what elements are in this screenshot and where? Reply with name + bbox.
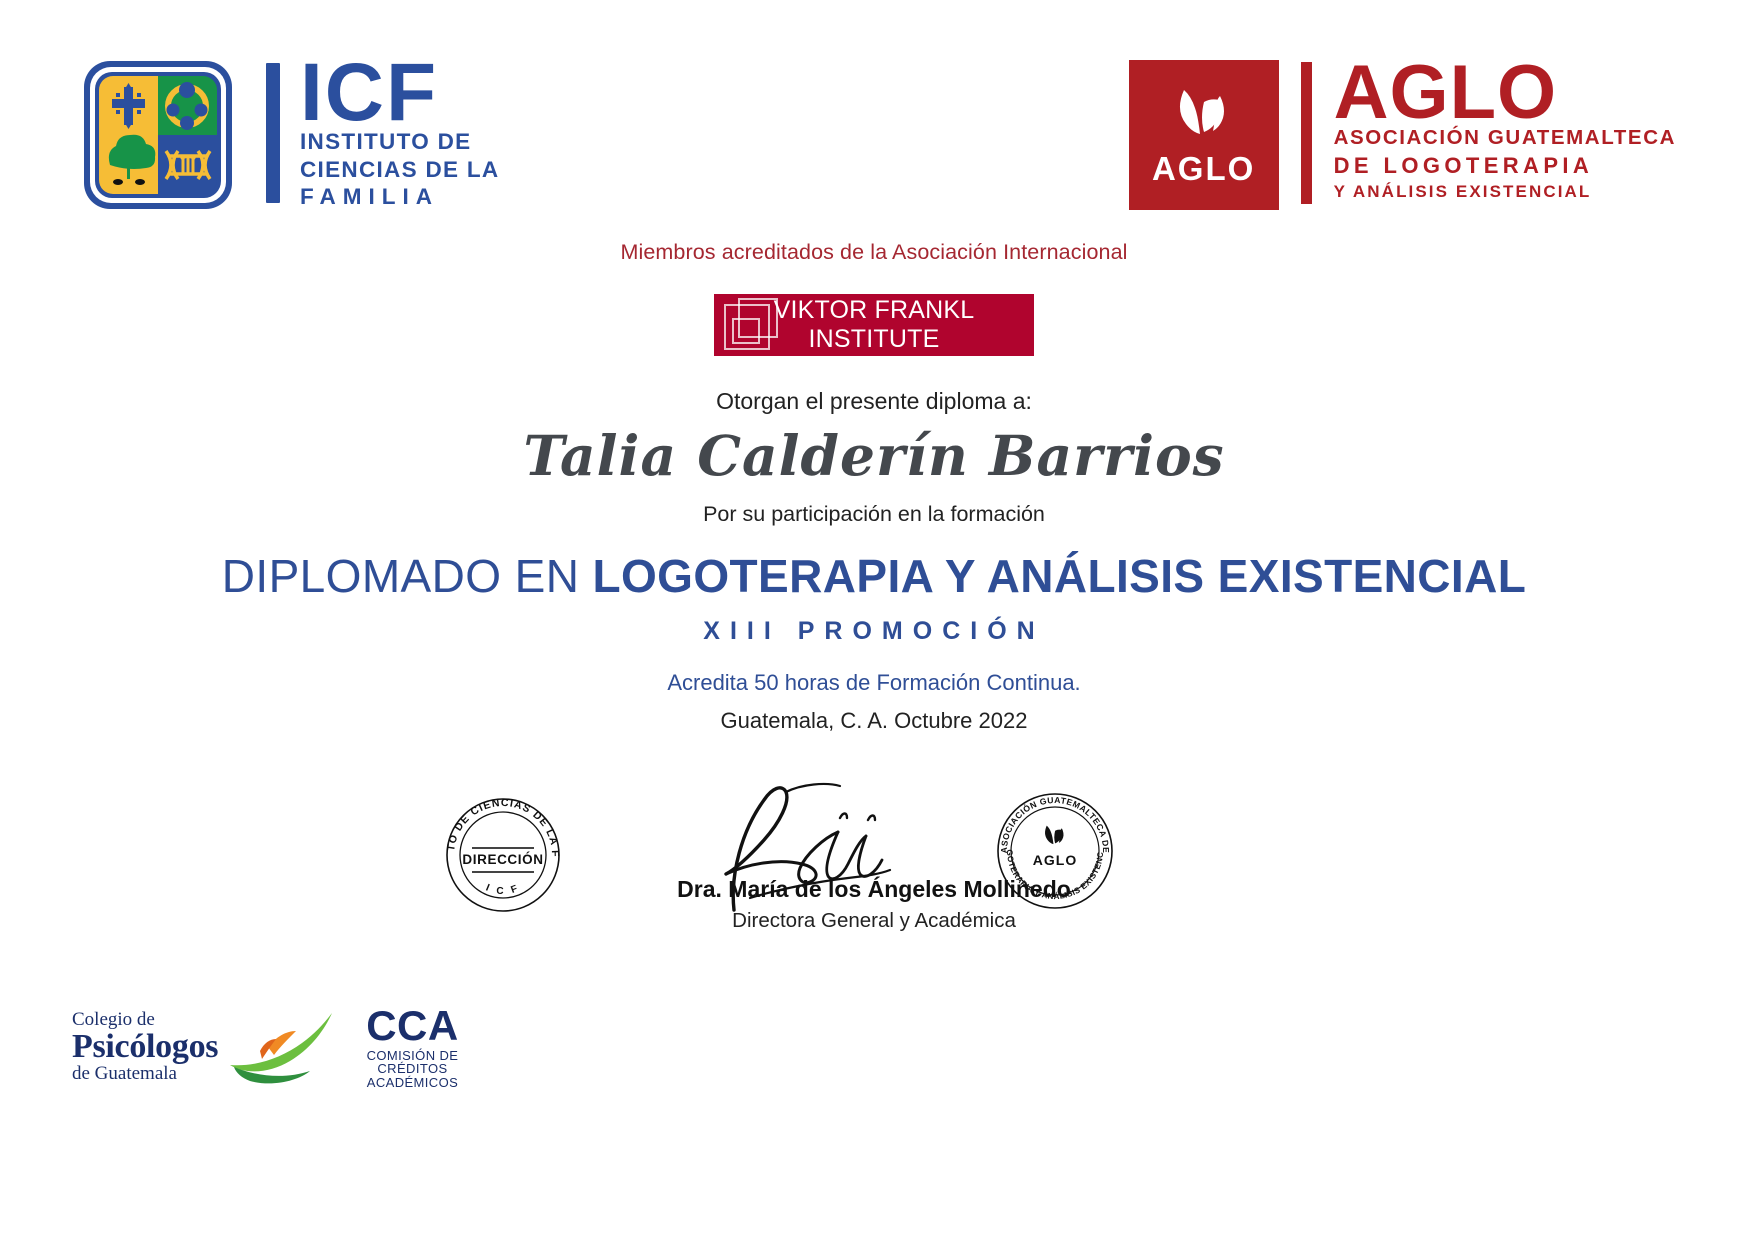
tulip-icon xyxy=(1168,86,1240,148)
certificate-page: ICF INSTITUTO DE CIENCIAS DE LA FAMILIA … xyxy=(0,0,1748,1240)
cca-line3: ACADÉMICOS xyxy=(367,1076,458,1090)
participation-line: Por su participación en la formación xyxy=(0,502,1748,527)
icf-subtitle-line1: INSTITUTO DE xyxy=(300,128,499,155)
footer-logos: Colegio de Psicólogos de Guatemala CCA C… xyxy=(72,1004,459,1090)
signer-role: Directora General y Académica xyxy=(0,909,1748,933)
vfi-banner-text: VIKTOR FRANKL INSTITUTE xyxy=(714,296,1034,354)
hours-line: Acredita 50 horas de Formación Continua. xyxy=(0,670,1748,696)
cca-line1: COMISIÓN DE xyxy=(367,1049,459,1063)
svg-text:AGLO: AGLO xyxy=(1033,852,1077,868)
svg-text:ASOCIACIÓN GUATEMALTECA DE: ASOCIACIÓN GUATEMALTECA DE xyxy=(999,795,1111,854)
icf-shield-icon xyxy=(78,55,238,215)
place-date-line: Guatemala, C. A. Octubre 2022 xyxy=(0,708,1748,734)
aglo-acronym: AGLO xyxy=(1334,60,1676,125)
aglo-logo: AGLO AGLO ASOCIACIÓN GUATEMALTECA DE LOG… xyxy=(1129,60,1676,210)
viktor-frankl-institute-banner: VIKTOR FRANKL INSTITUTE xyxy=(714,294,1034,356)
psicologos-bird-icon xyxy=(224,1007,344,1087)
aglo-subtitle-line2: DE LOGOTERAPIA xyxy=(1334,152,1676,181)
icf-rule xyxy=(266,63,280,202)
recipient-name: Talia Calderín Barrios xyxy=(0,423,1748,488)
program-title: DIPLOMADO EN LOGOTERAPIA Y ANÁLISIS EXIS… xyxy=(0,549,1748,603)
icf-subtitle-line2: CIENCIAS DE LA xyxy=(300,156,499,183)
cca-acronym: CCA xyxy=(366,1004,459,1049)
cca-logo: CCA COMISIÓN DE CRÉDITOS ACADÉMICOS xyxy=(366,1004,459,1090)
psicologos-line2: Psicólogos xyxy=(72,1030,218,1065)
aglo-rule xyxy=(1301,62,1312,204)
aglo-mark-text: AGLO xyxy=(1129,150,1279,188)
icf-wordmark: ICF INSTITUTO DE CIENCIAS DE LA FAMILIA xyxy=(266,59,499,210)
svg-text:DIRECCIÓN: DIRECCIÓN xyxy=(462,852,543,867)
program-title-light: DIPLOMADO EN xyxy=(222,550,593,602)
signature-block: INSTITUTO DE CIENCIAS DE LA FAMILIA I C … xyxy=(0,778,1748,958)
signer-info: Dra. María de los Ángeles Mollinedo Dire… xyxy=(0,876,1748,933)
psicologos-line3: de Guatemala xyxy=(72,1064,218,1083)
psicologos-line1: Colegio de xyxy=(72,1010,218,1029)
certificate-body: Miembros acreditados de la Asociación In… xyxy=(0,240,1748,734)
aglo-mark-icon: AGLO xyxy=(1129,60,1279,210)
aglo-subtitle-line3: Y ANÁLISIS EXISTENCIAL xyxy=(1334,181,1676,203)
aglo-wordmark: AGLO ASOCIACIÓN GUATEMALTECA DE LOGOTERA… xyxy=(1334,60,1676,203)
aglo-subtitle-line1: ASOCIACIÓN GUATEMALTECA xyxy=(1334,125,1676,152)
members-line: Miembros acreditados de la Asociación In… xyxy=(0,240,1748,265)
promotion-line: XIII PROMOCIÓN xyxy=(0,617,1748,646)
signer-name: Dra. María de los Ángeles Mollinedo xyxy=(0,876,1748,903)
program-title-bold: LOGOTERAPIA Y ANÁLISIS EXISTENCIAL xyxy=(593,550,1527,602)
icf-logo: ICF INSTITUTO DE CIENCIAS DE LA FAMILIA xyxy=(78,55,499,215)
award-line: Otorgan el presente diploma a: xyxy=(0,388,1748,415)
icf-acronym: ICF xyxy=(300,59,499,128)
cca-line2: CRÉDITOS xyxy=(377,1062,447,1076)
colegio-psicologos-logo: Colegio de Psicólogos de Guatemala xyxy=(72,1007,344,1087)
icf-subtitle-line3: FAMILIA xyxy=(300,183,499,210)
